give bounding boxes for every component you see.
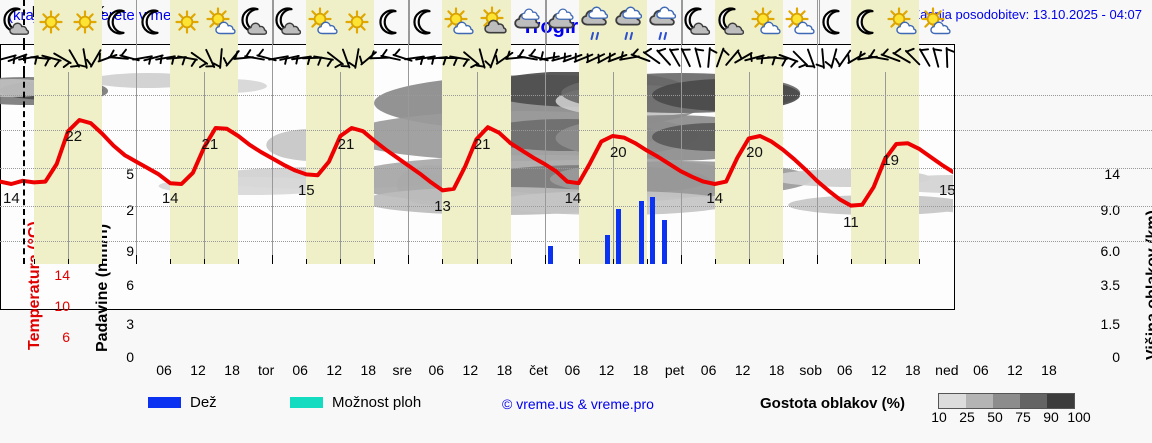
x-tick-mark: [681, 255, 682, 264]
temperature-label: 13: [434, 198, 451, 215]
x-tick-mark: [238, 259, 239, 264]
x-tick-12: 06: [565, 362, 581, 378]
cloud-density-tick-labels: 1025507590100: [925, 409, 1093, 425]
x-tick-mark: [477, 259, 478, 264]
legend-label-rain: Dež: [190, 394, 217, 411]
chart-legend: Dež Možnost ploh © vreme.us & vreme.pro …: [130, 388, 1145, 433]
prec-tick-2: 6: [104, 277, 134, 293]
x-tick-21: 12: [871, 362, 887, 378]
x-tick-mark: [102, 259, 103, 264]
prec-tick-1: 3: [104, 316, 134, 332]
x-tick-19: sob: [799, 362, 822, 378]
temperature-label: 20: [746, 144, 763, 161]
x-tick-mark: [851, 259, 852, 264]
legend-label-showers: Možnost ploh: [332, 394, 421, 411]
x-tick-mark: [919, 259, 920, 264]
x-tick-10: 18: [497, 362, 513, 378]
x-tick-3: tor: [258, 362, 274, 378]
x-tick-24: 06: [973, 362, 989, 378]
x-tick-20: 06: [837, 362, 853, 378]
temperature-label: 22: [65, 128, 82, 145]
x-tick-mark: [783, 259, 784, 264]
x-tick-mark: [647, 259, 648, 264]
x-tick-22: 18: [905, 362, 921, 378]
temperature-label: 11: [843, 214, 859, 231]
legend-item-rain: Dež: [148, 394, 217, 411]
current-time-marker: [23, 72, 25, 264]
cloud-density-step-4: [1047, 394, 1074, 408]
showers-color-swatch: [290, 397, 323, 408]
x-tick-9: 12: [463, 362, 479, 378]
x-tick-26: 18: [1041, 362, 1057, 378]
x-tick-23: ned: [935, 362, 958, 378]
temp-tick-0: 6: [40, 329, 70, 345]
temperature-label: 15: [939, 182, 955, 199]
copyright-link[interactable]: © vreme.us & vreme.pro: [502, 396, 654, 412]
x-tick-7: sre: [393, 362, 412, 378]
x-tick-mark: [34, 259, 35, 264]
x-tick-5: 12: [326, 362, 342, 378]
x-tick-6: 18: [360, 362, 376, 378]
cloud-density-tick-3: 75: [1009, 409, 1037, 425]
wind-barb-row: [0, 44, 955, 72]
cloud-density-step-3: [1020, 394, 1047, 408]
cloud-density-step-2: [993, 394, 1020, 408]
x-tick-14: 18: [633, 362, 649, 378]
x-tick-mark: [817, 255, 818, 264]
meteogram-plot: 142214211521132114201420111915: [0, 44, 955, 310]
cloud-density-tick-0: 10: [925, 409, 953, 425]
chart-area: 142214211521132114201420111915: [0, 72, 955, 264]
x-tick-18: 18: [769, 362, 785, 378]
x-tick-16: 06: [701, 362, 717, 378]
x-tick-mark: [136, 255, 137, 264]
x-tick-2: 18: [224, 362, 240, 378]
temperature-label: 20: [610, 144, 627, 161]
cloud-density-step-1: [966, 394, 993, 408]
cloud-density-tick-1: 25: [953, 409, 981, 425]
x-tick-17: 12: [735, 362, 751, 378]
cloudh-tick-1: 1.5: [1090, 316, 1120, 332]
temperature-label: 14: [706, 190, 723, 207]
x-tick-mark: [204, 259, 205, 264]
temperature-label: 14: [162, 190, 179, 207]
x-tick-mark: [613, 259, 614, 264]
temp-tick-1: 10: [40, 298, 70, 314]
x-tick-8: 06: [429, 362, 445, 378]
x-tick-11: čet: [529, 362, 548, 378]
cloud-density-gradient-bar: [938, 393, 1075, 409]
x-tick-mark: [749, 259, 750, 264]
cloud-density-step-0: [939, 394, 966, 408]
x-tick-15: pet: [665, 362, 684, 378]
cloud-density-tick-4: 90: [1037, 409, 1065, 425]
x-tick-mark: [579, 259, 580, 264]
temperature-label: 14: [565, 190, 582, 207]
temperature-label: 21: [474, 136, 491, 153]
temperature-label: 15: [298, 182, 315, 199]
temperature-label: 14: [3, 190, 20, 207]
temperature-label: 21: [202, 136, 219, 153]
x-tick-25: 12: [1007, 362, 1023, 378]
x-tick-0: 06: [156, 362, 172, 378]
cloud-density-tick-5: 100: [1065, 409, 1093, 425]
x-tick-mark: [374, 259, 375, 264]
x-tick-mark: [408, 255, 409, 264]
x-tick-mark: [885, 259, 886, 264]
x-tick-1: 12: [190, 362, 206, 378]
temperature-label: 19: [882, 152, 899, 169]
x-tick-mark: [442, 259, 443, 264]
temp-tick-2: 14: [40, 267, 70, 283]
rain-color-swatch: [148, 397, 181, 408]
legend-item-showers: Možnost ploh: [290, 394, 421, 411]
x-tick-mark: [272, 255, 273, 264]
wind-barb: [936, 46, 955, 70]
cloud-density-legend-title: Gostota oblakov (%): [760, 395, 905, 412]
x-tick-mark: [306, 259, 307, 264]
x-tick-mark: [545, 255, 546, 264]
temperature-curve: [0, 72, 953, 264]
x-tick-mark: [340, 259, 341, 264]
cloudh-tick-0: 0: [1090, 349, 1120, 365]
x-tick-mark: [511, 259, 512, 264]
x-tick-mark: [170, 259, 171, 264]
temperature-label: 21: [338, 136, 355, 153]
x-tick-13: 12: [599, 362, 615, 378]
x-tick-4: 06: [292, 362, 308, 378]
x-tick-mark: [715, 259, 716, 264]
x-tick-mark: [68, 259, 69, 264]
x-axis-tick-labels: 061218tor061218sre061218čet061218pet0612…: [130, 362, 1085, 382]
cloud-density-tick-2: 50: [981, 409, 1009, 425]
cloudh-tick-2: 3.5: [1090, 277, 1120, 293]
